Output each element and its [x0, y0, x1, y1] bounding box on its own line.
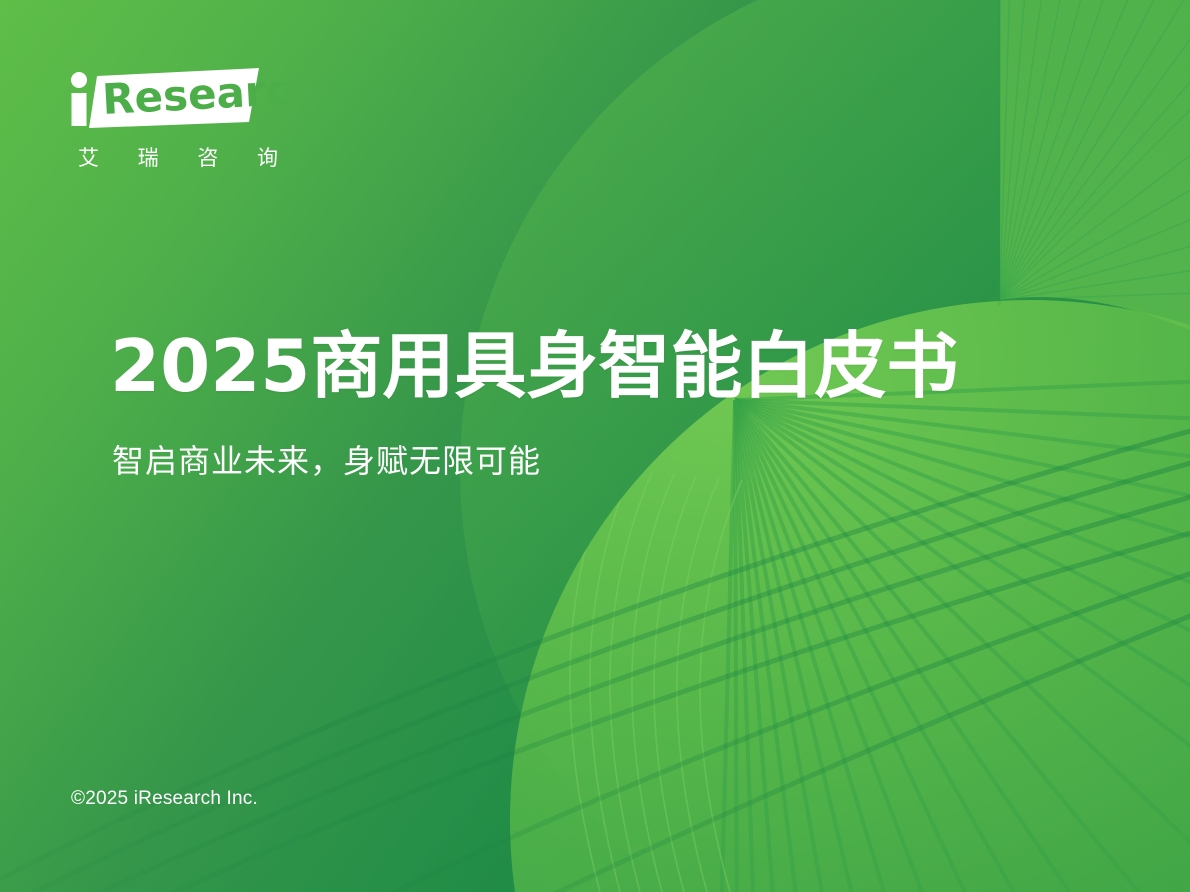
report-cover-page: Research 艾 瑞 咨 询 2025商用具身智能白皮书 智启商业未来，身赋… — [0, 0, 1190, 892]
decor-seam — [998, 0, 1001, 305]
iresearch-logo-icon: Research — [63, 68, 293, 130]
logo-svg: Research — [63, 68, 293, 130]
logo-block: Research 艾 瑞 咨 询 — [63, 68, 293, 178]
page-title: 2025商用具身智能白皮书 — [110, 329, 958, 405]
logo-i-dot — [71, 72, 87, 88]
logo-chinese-subtitle: 艾 瑞 咨 询 — [63, 142, 293, 172]
copyright-notice: ©2025 iResearch Inc. — [71, 788, 258, 810]
logo-wordmark: Research — [101, 68, 293, 124]
logo-i-stem — [72, 93, 87, 126]
page-subtitle: 智启商业未来，身赋无限可能 — [112, 436, 541, 482]
